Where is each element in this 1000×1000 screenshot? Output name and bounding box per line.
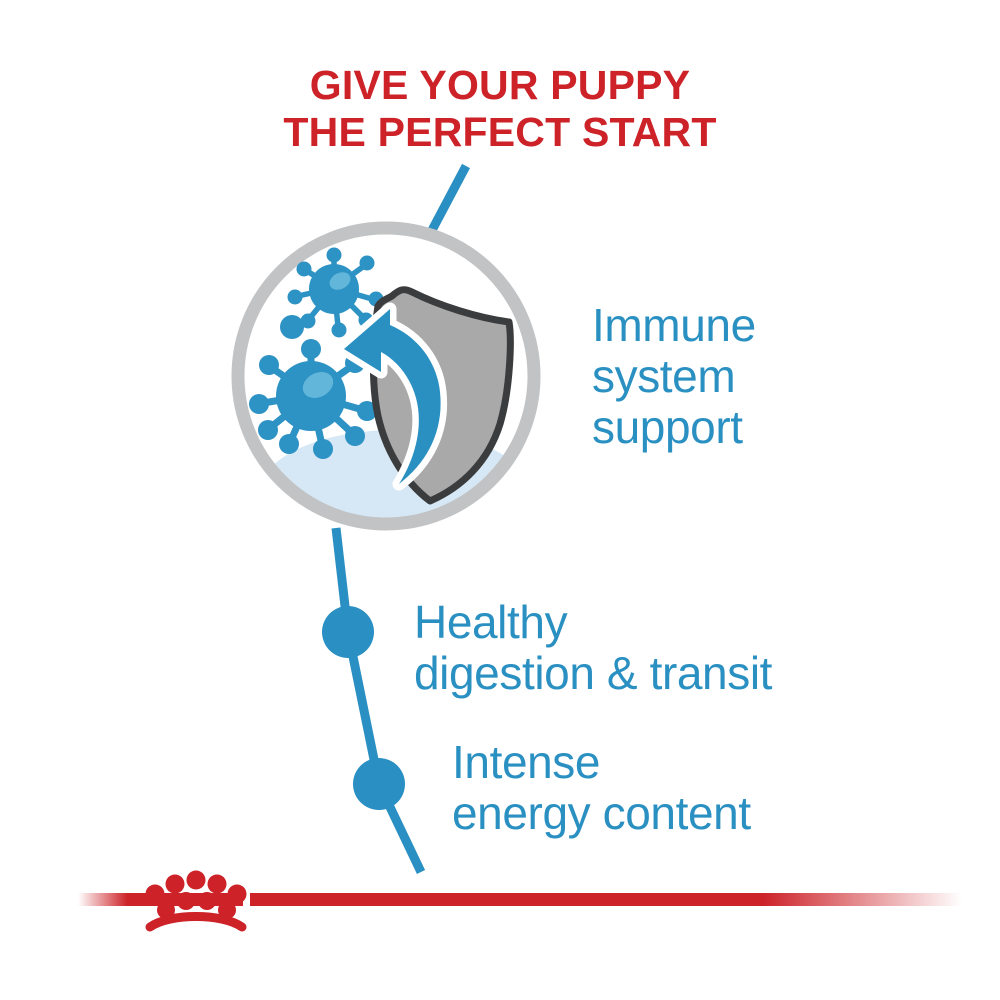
protection-arrow-icon <box>344 309 441 484</box>
benefit-energy-line-2: energy content <box>452 788 751 839</box>
immune-shield-icon <box>238 228 534 554</box>
icon-ring <box>238 228 534 524</box>
page-title: GIVE YOUR PUPPY THE PERFECT START <box>0 62 1000 156</box>
benefit-digestion-line-1: Healthy <box>414 597 772 648</box>
benefit-energy-line-1: Intense <box>452 737 751 788</box>
germ-large-icon <box>249 339 377 459</box>
benefit-digestion-line-2: digestion & transit <box>414 648 772 699</box>
benefit-label-healthy-digestion-transit: Healthy digestion & transit <box>414 597 772 699</box>
benefit-immune-line-2: system <box>592 351 756 402</box>
shield-icon <box>373 290 510 501</box>
benefit-immune-line-3: support <box>592 402 756 453</box>
benefit-immune-line-1: Immune <box>592 300 756 351</box>
benefit-label-intense-energy-content: Intense energy content <box>452 737 751 839</box>
germ-dot-icon <box>280 315 304 339</box>
page-title-line-2: THE PERFECT START <box>0 109 1000 156</box>
benefit-label-immune-system-support: Immune system support <box>592 300 756 453</box>
connector-top-stub <box>430 166 466 234</box>
ground-ellipse-icon <box>260 430 530 554</box>
connector-node-1 <box>322 606 374 658</box>
footer-rule <box>78 893 962 906</box>
connector-path <box>322 528 421 872</box>
poster-canvas: GIVE YOUR PUPPY THE PERFECT START <box>0 0 1000 1000</box>
royal-canin-crown-logo <box>146 871 247 928</box>
connector-node-2 <box>353 758 405 810</box>
page-title-line-1: GIVE YOUR PUPPY <box>0 62 1000 109</box>
germ-small-icon <box>288 248 384 338</box>
